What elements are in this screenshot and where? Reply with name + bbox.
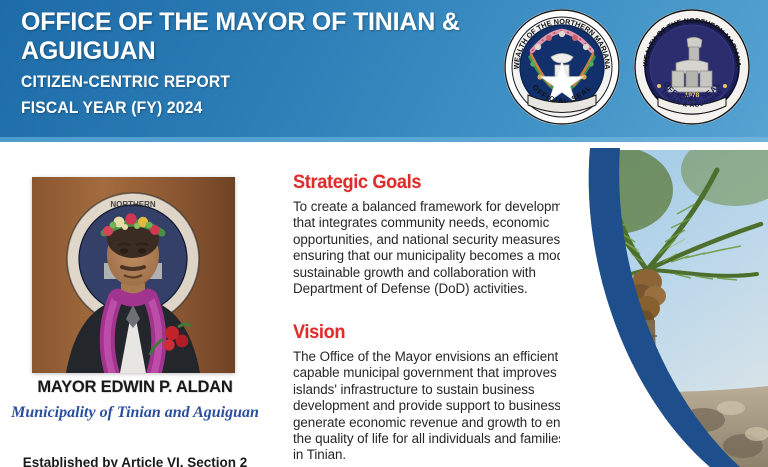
header-bottom-strip xyxy=(0,137,768,142)
mayor-municipality-label: Municipality of Tinian and Aguiguan xyxy=(0,402,270,423)
header-text-block: OFFICE OF THE MAYOR OF TINIAN & AGUIGUAN… xyxy=(21,8,491,120)
vision-body: The Office of the Mayor envisions an eff… xyxy=(293,349,605,464)
fiscal-year-label: FISCAL YEAR (FY) 2024 xyxy=(21,96,453,120)
vision-heading: Vision xyxy=(293,322,589,344)
strategic-goals-heading: Strategic Goals xyxy=(293,172,584,194)
seal-group: COMMONWEALTH OF THE NORTHERN MARIANA ISL… xyxy=(502,7,752,127)
svg-text:NORTHERN: NORTHERN xyxy=(110,200,156,209)
page-header: OFFICE OF THE MAYOR OF TINIAN & AGUIGUAN… xyxy=(0,0,768,142)
cnmi-official-seal-icon: COMMONWEALTH OF THE NORTHERN MARIANA ISL… xyxy=(502,7,622,127)
mayor-column: NORTHERN xyxy=(0,150,280,467)
cnmi-mayor-office-seal-icon: COMMONWEALTH OF THE NORTHERN MARIANA ISL… xyxy=(632,7,752,127)
section-strategic-goals: Strategic Goals To create a balanced fra… xyxy=(293,172,599,297)
mayor-portrait: NORTHERN xyxy=(32,177,235,373)
mayor-name: MAYOR EDWIN P. ALDAN xyxy=(0,378,270,397)
report-page: OFFICE OF THE MAYOR OF TINIAN & AGUIGUAN… xyxy=(0,0,768,467)
section-vision: Vision The Office of the Mayor envisions… xyxy=(293,322,605,464)
strategic-goals-body: To create a balanced framework for devel… xyxy=(293,199,599,297)
established-note: Established by Article VI, Section 2 xyxy=(0,455,270,467)
palm-photo-panel xyxy=(585,150,768,467)
report-type-label: CITIZEN-CENTRIC REPORT xyxy=(21,70,453,94)
page-title: OFFICE OF THE MAYOR OF TINIAN & AGUIGUAN xyxy=(21,8,491,66)
